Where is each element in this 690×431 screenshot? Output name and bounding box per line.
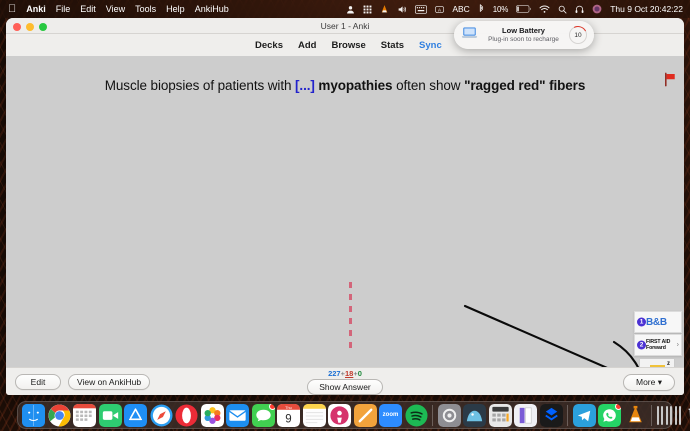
- calendar-day-icon[interactable]: Thu9: [277, 404, 300, 427]
- mail-icon[interactable]: [226, 404, 249, 427]
- messages-icon[interactable]: [252, 404, 275, 427]
- podcasts-icon[interactable]: [328, 404, 351, 427]
- bluetooth-icon[interactable]: [478, 4, 485, 14]
- menu-item-tools[interactable]: Tools: [135, 4, 156, 14]
- notification-title: Low Battery: [484, 27, 563, 36]
- trash-icon[interactable]: [684, 404, 690, 427]
- menu-item-ankihub[interactable]: AnkiHub: [195, 4, 229, 14]
- menu-item-view[interactable]: View: [106, 4, 125, 14]
- card-question-text: Muscle biopsies of patients with [...] m…: [6, 78, 684, 95]
- safari-icon[interactable]: [150, 404, 173, 427]
- tab-sync[interactable]: Sync: [419, 40, 442, 51]
- battery-icon[interactable]: [516, 5, 531, 13]
- finder-icon[interactable]: [22, 404, 45, 427]
- vlc-icon[interactable]: [380, 4, 389, 14]
- laptop-icon: [461, 26, 478, 44]
- search-icon[interactable]: [558, 5, 567, 14]
- telegram-icon[interactable]: [573, 404, 596, 427]
- control-center-icon[interactable]: [592, 4, 602, 14]
- window-preview-6[interactable]: [679, 406, 681, 425]
- card-text-bold-2: "ragged red" fibers: [464, 78, 585, 93]
- first-aid-label-line1: FIRST AID: [646, 339, 670, 345]
- dock-separator-3: [651, 405, 652, 426]
- card-thumbnail-preview[interactable]: z: [639, 358, 675, 367]
- menu-bar:  Anki File Edit View Tools Help AnkiHub…: [0, 0, 690, 18]
- anki-icon[interactable]: [463, 404, 486, 427]
- apple-logo-icon[interactable]: : [8, 4, 16, 15]
- dock-separator-1: [432, 405, 433, 426]
- menu-item-edit[interactable]: Edit: [80, 4, 96, 14]
- window-preview-4[interactable]: [670, 406, 672, 425]
- count-new[interactable]: 227: [328, 369, 341, 378]
- anki-bottom-bar: Edit View on AnkiHub 227+18+0 Show Answe…: [6, 367, 684, 395]
- menu-item-file[interactable]: File: [56, 4, 71, 14]
- cloze-deletion-marker: [...]: [295, 78, 315, 93]
- window-preview-3[interactable]: [666, 406, 668, 425]
- window-preview-5[interactable]: [675, 406, 677, 425]
- sidebar-item-bnb[interactable]: 1 B&B: [634, 311, 682, 333]
- calculator-icon[interactable]: [489, 404, 512, 427]
- dropbox-icon[interactable]: [540, 404, 563, 427]
- zoom-icon[interactable]: zoom: [379, 404, 402, 427]
- tab-stats[interactable]: Stats: [381, 40, 404, 51]
- wifi-icon[interactable]: [539, 5, 550, 14]
- show-answer-button[interactable]: Show Answer: [307, 379, 383, 395]
- more-button[interactable]: More ▾: [623, 374, 675, 391]
- menu-item-anki[interactable]: Anki: [26, 4, 46, 14]
- input-source-indicator[interactable]: A: [435, 5, 444, 14]
- calendar-icon[interactable]: [73, 404, 96, 427]
- window-preview-2[interactable]: [661, 406, 663, 425]
- battery-percent-label: 10%: [493, 5, 508, 14]
- svg-text:Thu: Thu: [285, 405, 292, 409]
- bnb-label: B&B: [646, 317, 667, 328]
- first-aid-badge: 2: [637, 341, 646, 350]
- card-counts: 227+18+0: [6, 369, 684, 378]
- chevron-right-icon[interactable]: ›: [677, 342, 679, 349]
- cursor-trail-dashes: [349, 282, 352, 354]
- keyboard-brightness-icon[interactable]: [415, 5, 427, 14]
- svg-text:A: A: [438, 7, 441, 12]
- settings-icon[interactable]: [438, 404, 461, 427]
- volume-icon[interactable]: [397, 5, 407, 14]
- card-review-area: Muscle biopsies of patients with [...] m…: [6, 56, 684, 367]
- whatsapp-badge: [615, 404, 621, 410]
- chrome-icon[interactable]: [48, 404, 71, 427]
- first-aid-label: FIRST AID Forward: [646, 339, 670, 352]
- more-button-label: More: [636, 377, 655, 387]
- sidebar-item-first-aid[interactable]: 2 FIRST AID Forward ›: [634, 334, 682, 356]
- headphones-icon[interactable]: [575, 5, 584, 14]
- window-preview-1[interactable]: [657, 406, 659, 425]
- freeform-icon[interactable]: [354, 404, 377, 427]
- battery-level-ring: 10: [569, 26, 587, 44]
- books-icon[interactable]: [514, 404, 537, 427]
- low-battery-notification[interactable]: Low Battery Plug-in soon to recharge 10: [454, 21, 594, 49]
- vlc-icon[interactable]: [624, 404, 647, 427]
- notification-subtitle: Plug-in soon to recharge: [484, 36, 563, 43]
- bnb-badge: 1: [637, 318, 646, 327]
- card-text-segment-2: often show: [392, 78, 464, 93]
- photos-icon[interactable]: [201, 404, 224, 427]
- spotify-icon[interactable]: [405, 404, 428, 427]
- red-flag-icon[interactable]: [663, 72, 678, 92]
- side-widget-panel: 1 B&B 2 FIRST AID Forward › z: [634, 311, 682, 367]
- count-due[interactable]: 0: [358, 369, 362, 378]
- first-aid-label-line2: Forward: [646, 345, 666, 351]
- anki-main-window: User 1 - Anki Decks Add Browse Stats Syn…: [6, 18, 684, 395]
- anki-tab-list: Decks Add Browse Stats Sync: [255, 34, 442, 56]
- user-icon[interactable]: [346, 5, 355, 14]
- chevron-down-icon: ▾: [658, 377, 662, 387]
- facetime-icon[interactable]: [99, 404, 122, 427]
- grid-icon[interactable]: [363, 5, 372, 14]
- card-text-segment-1: Muscle biopsies of patients with: [105, 78, 295, 93]
- dock: Thu9 zoom: [17, 401, 673, 429]
- app-store-icon[interactable]: [124, 404, 147, 427]
- svg-text:9: 9: [285, 413, 291, 425]
- whatsapp-icon[interactable]: [598, 404, 621, 427]
- menu-item-help[interactable]: Help: [166, 4, 185, 14]
- messages-badge: [269, 404, 275, 410]
- dock-separator-2: [567, 405, 568, 426]
- input-source-label: ABC: [452, 4, 469, 14]
- card-text-bold-1: myopathies: [315, 78, 393, 93]
- tab-add[interactable]: Add: [298, 40, 316, 51]
- notes-icon[interactable]: [303, 404, 326, 427]
- opera-icon[interactable]: [175, 404, 198, 427]
- menubar-clock[interactable]: Thu 9 Oct 20:42:22: [610, 4, 683, 14]
- tab-decks[interactable]: Decks: [255, 40, 283, 51]
- tab-browse[interactable]: Browse: [331, 40, 365, 51]
